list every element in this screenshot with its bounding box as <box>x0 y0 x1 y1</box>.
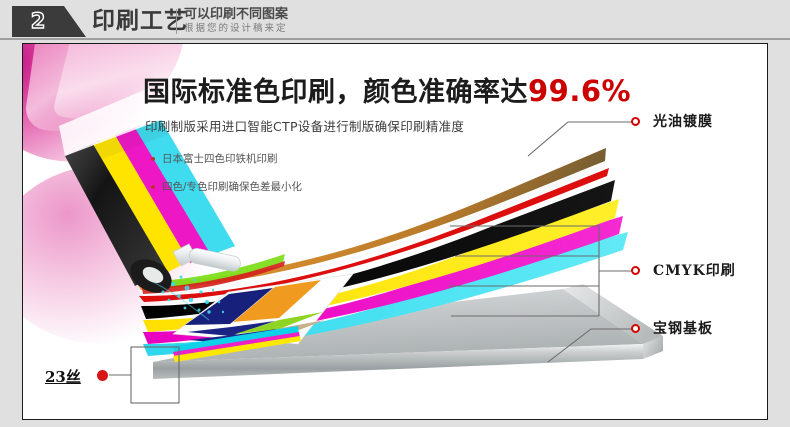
page-header: 2 印刷工艺 可以印刷不同图案 根据您的设计稿来定 <box>0 0 790 40</box>
header-subtitle-sub: 根据您的设计稿来定 <box>184 23 288 35</box>
thickness-leader-line <box>23 44 768 420</box>
header-divider <box>176 9 177 34</box>
header-title: 印刷工艺 <box>92 7 188 36</box>
step-number: 2 <box>12 6 64 37</box>
step-badge-tail-icon <box>64 6 86 37</box>
header-subtitle-main: 可以印刷不同图案 <box>184 7 288 22</box>
header-rule <box>0 38 790 40</box>
content-panel: 国际标准色印刷，颜色准确率达99.6% 印刷制版采用进口智能CTP设备进行制版确… <box>22 43 768 420</box>
